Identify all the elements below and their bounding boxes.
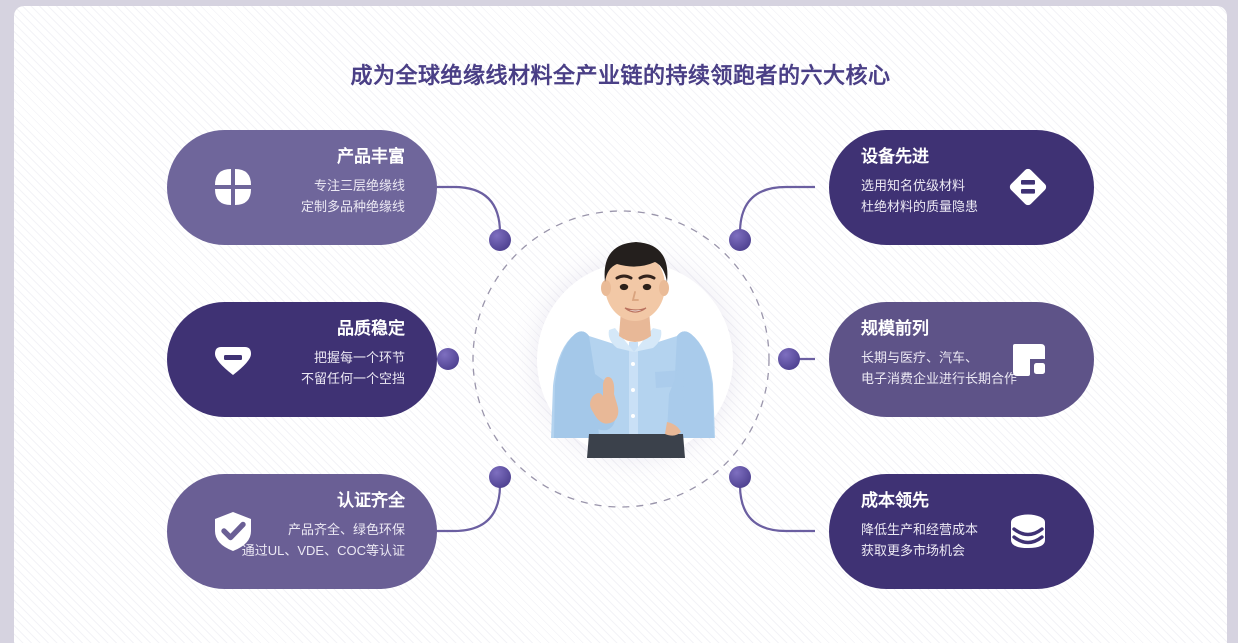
feature-card-quality-stability[interactable]: 品质稳定 把握每一个环节 不留任何一个空挡: [167, 302, 437, 417]
database-icon: [1004, 507, 1052, 555]
feature-card-advanced-equipment[interactable]: 设备先进 选用知名优级材料 杜绝材料的质量隐患: [829, 130, 1094, 245]
node-dot-3: [489, 466, 511, 488]
feature-card-scale-leading[interactable]: 规模前列 长期与医疗、汽车、 电子消费企业进行长期合作: [829, 302, 1094, 417]
feature-card-product-variety[interactable]: 产品丰富 专注三层绝缘线 定制多品种绝缘线: [167, 130, 437, 245]
shield-check-icon: [209, 507, 257, 555]
feature-card-certifications[interactable]: 认证齐全 产品齐全、绿色环保 通过UL、VDE、COC等认证: [167, 474, 437, 589]
feature-card-cost-leadership[interactable]: 成本领先 降低生产和经营成本 获取更多市场机会: [829, 474, 1094, 589]
center-person-photo: [537, 224, 733, 458]
gem-minus-icon: [209, 335, 257, 383]
connector-line-6: [740, 485, 815, 531]
clover-icon: [209, 163, 257, 211]
node-dot-5: [778, 348, 800, 370]
connector-line-4: [740, 187, 815, 233]
page-title: 成为全球绝缘线材料全产业链的持续领跑者的六大核心: [14, 58, 1227, 90]
content-panel: 成为全球绝缘线材料全产业链的持续领跑者的六大核心: [14, 6, 1227, 643]
diamond-bars-icon: [1004, 163, 1052, 211]
node-dot-2: [437, 348, 459, 370]
node-dot-1: [489, 229, 511, 251]
node-dot-6: [729, 466, 751, 488]
blocks-icon: [1004, 335, 1052, 383]
